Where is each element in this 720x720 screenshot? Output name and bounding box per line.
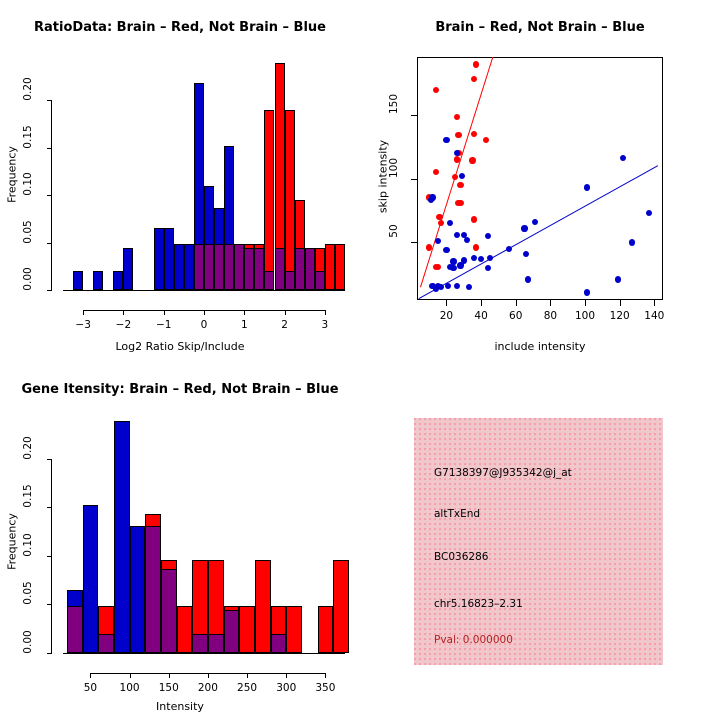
y-axis-tick (411, 179, 417, 180)
y-tick-label: 50 (388, 214, 400, 248)
scatter-point-brain (435, 264, 441, 270)
scatter-point-not-brain (525, 276, 531, 282)
scatter-point-not-brain (584, 289, 590, 295)
x-axis-tick (247, 673, 248, 678)
x-axis-tick (169, 673, 170, 678)
scatter-point-brain (471, 216, 477, 222)
histogram-bar-brain (264, 110, 274, 291)
info-event-type: altTxEnd (434, 508, 480, 520)
histogram-bar-overlap (254, 248, 264, 290)
y-axis-tick (47, 195, 52, 196)
histogram-bar-overlap (285, 271, 295, 290)
x-axis-tick (516, 300, 517, 306)
y-tick-label: 0.00 (22, 262, 34, 296)
scatter-point-brain (426, 244, 432, 250)
y-tick-label: 0.20 (22, 431, 34, 465)
scatter-point-not-brain (450, 265, 456, 271)
histogram-bar-overlap (271, 634, 287, 653)
scatter-point-not-brain (457, 262, 463, 268)
info-locus: chr5.16823–2.31 (434, 598, 523, 610)
scatter-point-brain (473, 244, 479, 250)
histogram-bar-not-brain (113, 271, 123, 290)
histogram-baseline (63, 653, 345, 654)
x-tick-label: 150 (149, 682, 189, 694)
histogram-bar-not-brain (174, 244, 184, 290)
scatter-point-not-brain (487, 255, 493, 261)
x-axis-tick (654, 300, 655, 306)
info-accession: BC036286 (434, 551, 488, 563)
x-axis-tick (285, 310, 286, 315)
histogram-bar-brain (318, 606, 334, 653)
gene-histogram-plotarea: 0.000.050.100.150.2050100150200250300350 (0, 360, 360, 720)
x-axis-tick (83, 310, 84, 315)
x-tick-label: 50 (70, 682, 110, 694)
histogram-bar-overlap (98, 634, 114, 653)
scatter-clip (417, 57, 663, 300)
x-axis-tick (325, 673, 326, 678)
x-tick-label: 350 (305, 682, 345, 694)
y-axis-tick (47, 604, 52, 605)
scatter-point-not-brain (454, 150, 460, 156)
x-axis-tick (164, 310, 165, 315)
histogram-baseline (63, 290, 345, 291)
y-tick-label: 0.15 (22, 479, 34, 513)
y-axis-tick (411, 242, 417, 243)
y-tick-label: 100 (388, 151, 400, 185)
histogram-bar-overlap (204, 244, 214, 290)
x-axis-tick (244, 310, 245, 315)
brain-fit-line (420, 57, 493, 287)
x-axis-tick (204, 310, 205, 315)
histogram-bar-overlap (234, 244, 244, 290)
scatter-point-not-brain (443, 247, 449, 253)
histogram-bar-overlap (315, 271, 325, 290)
histogram-bar-overlap (67, 606, 83, 653)
histogram-bar-not-brain (164, 228, 174, 290)
scatter-point-brain (455, 132, 461, 138)
scatter-point-brain (469, 157, 475, 163)
histogram-bar-not-brain (93, 271, 103, 290)
x-axis-tick (446, 300, 447, 306)
x-tick-label: 250 (227, 682, 267, 694)
x-tick-label: −3 (63, 319, 103, 331)
histogram-bar-brain (285, 110, 295, 291)
y-axis-tick (47, 243, 52, 244)
x-tick-label: −2 (103, 319, 143, 331)
intensity-scatter-panel: Brain – Red, Not Brain – Blue skip inten… (360, 0, 720, 360)
y-tick-label: 0.10 (22, 528, 34, 562)
scatter-point-brain (457, 182, 463, 188)
x-tick-label: 1 (224, 319, 264, 331)
y-tick-label: 0.05 (22, 576, 34, 610)
scatter-point-brain (473, 61, 479, 67)
figure-canvas: RatioData: Brain – Red, Not Brain – Blue… (0, 0, 720, 720)
histogram-bar-overlap (145, 526, 161, 653)
scatter-point-not-brain (532, 219, 538, 225)
scatter-point-brain (454, 156, 460, 162)
histogram-bar-overlap (208, 634, 224, 653)
histogram-bar-overlap (295, 248, 305, 290)
x-tick-label: 0 (184, 319, 224, 331)
y-axis-tick (47, 290, 52, 291)
y-tick-label: 150 (388, 87, 400, 121)
y-axis-tick (47, 507, 52, 508)
histogram-bar-not-brain (130, 526, 146, 653)
scatter-point-not-brain (443, 137, 449, 143)
x-axis-tick (90, 673, 91, 678)
x-axis-tick (208, 673, 209, 678)
histogram-bar-overlap (305, 248, 315, 290)
x-axis-tick (130, 673, 131, 678)
histogram-bar-brain (325, 244, 335, 290)
histogram-bar-brain (239, 606, 255, 653)
x-axis-tick (585, 300, 586, 306)
histogram-bar-not-brain (114, 421, 130, 653)
scatter-point-not-brain (454, 232, 460, 238)
y-tick-label: 0.10 (22, 167, 34, 201)
x-tick-label: 200 (188, 682, 228, 694)
x-tick-label: 140 (632, 310, 676, 322)
histogram-bar-overlap (244, 248, 254, 290)
histogram-bar-not-brain (184, 244, 194, 290)
histogram-bar-overlap (224, 244, 234, 290)
x-axis-tick (481, 300, 482, 306)
histogram-bar-not-brain (123, 248, 133, 290)
x-tick-label: 3 (305, 319, 345, 331)
scatter-point-not-brain (433, 285, 439, 291)
y-axis-tick (47, 100, 52, 101)
scatter-point-brain (457, 200, 463, 206)
x-tick-label: −1 (144, 319, 184, 331)
histogram-bar-overlap (214, 244, 224, 290)
scatter-plotarea: 5010015020406080100120140 (360, 0, 720, 360)
x-tick-label: 2 (265, 319, 305, 331)
y-tick-label: 0.15 (22, 120, 34, 154)
histogram-bar-not-brain (83, 505, 99, 653)
histogram-bar-overlap (192, 634, 208, 653)
ratio-histogram-panel: RatioData: Brain – Red, Not Brain – Blue… (0, 0, 360, 360)
scatter-point-not-brain (521, 225, 527, 231)
ratio-histogram-plotarea: 0.000.050.100.150.20−3−2−10123 (0, 0, 360, 360)
info-probe-id: G7138397@J935342@j_at (434, 467, 572, 479)
x-axis-tick (123, 310, 124, 315)
x-tick-label: 100 (110, 682, 150, 694)
y-tick-label: 0.00 (22, 625, 34, 659)
y-axis-tick (47, 459, 52, 460)
gene-info-panel: G7138397@J935342@j_at altTxEnd BC036286 … (414, 418, 663, 665)
x-axis-tick (286, 673, 287, 678)
histogram-bar-overlap (194, 244, 204, 290)
x-tick-label: 300 (266, 682, 306, 694)
info-pval: Pval: 0.000000 (434, 634, 513, 646)
histogram-bar-brain (286, 606, 302, 653)
histogram-bar-not-brain (73, 271, 83, 290)
histogram-bar-brain (333, 560, 349, 653)
scatter-point-not-brain (584, 184, 590, 190)
histogram-bar-brain (177, 606, 193, 653)
x-axis-tick (620, 300, 621, 306)
y-tick-label: 0.20 (22, 72, 34, 106)
histogram-bar-overlap (161, 569, 177, 653)
scatter-point-not-brain (454, 283, 460, 289)
scatter-point-not-brain (615, 276, 621, 282)
histogram-bar-brain (255, 560, 271, 653)
histogram-bar-brain (335, 244, 345, 290)
y-axis-tick (47, 556, 52, 557)
histogram-bar-overlap (264, 271, 274, 290)
gene-intensity-histogram-panel: Gene Itensity: Brain – Red, Not Brain – … (0, 360, 360, 720)
histogram-bar-overlap (275, 248, 285, 290)
scatter-point-not-brain (506, 246, 512, 252)
histogram-bar-overlap (224, 610, 240, 653)
histogram-bar-not-brain (154, 228, 164, 290)
y-tick-label: 0.05 (22, 215, 34, 249)
y-axis-tick (411, 115, 417, 116)
scatter-point-not-brain (629, 239, 635, 245)
x-axis-tick (550, 300, 551, 306)
x-axis-tick (325, 310, 326, 315)
y-axis-tick (47, 148, 52, 149)
y-axis-tick (47, 653, 52, 654)
